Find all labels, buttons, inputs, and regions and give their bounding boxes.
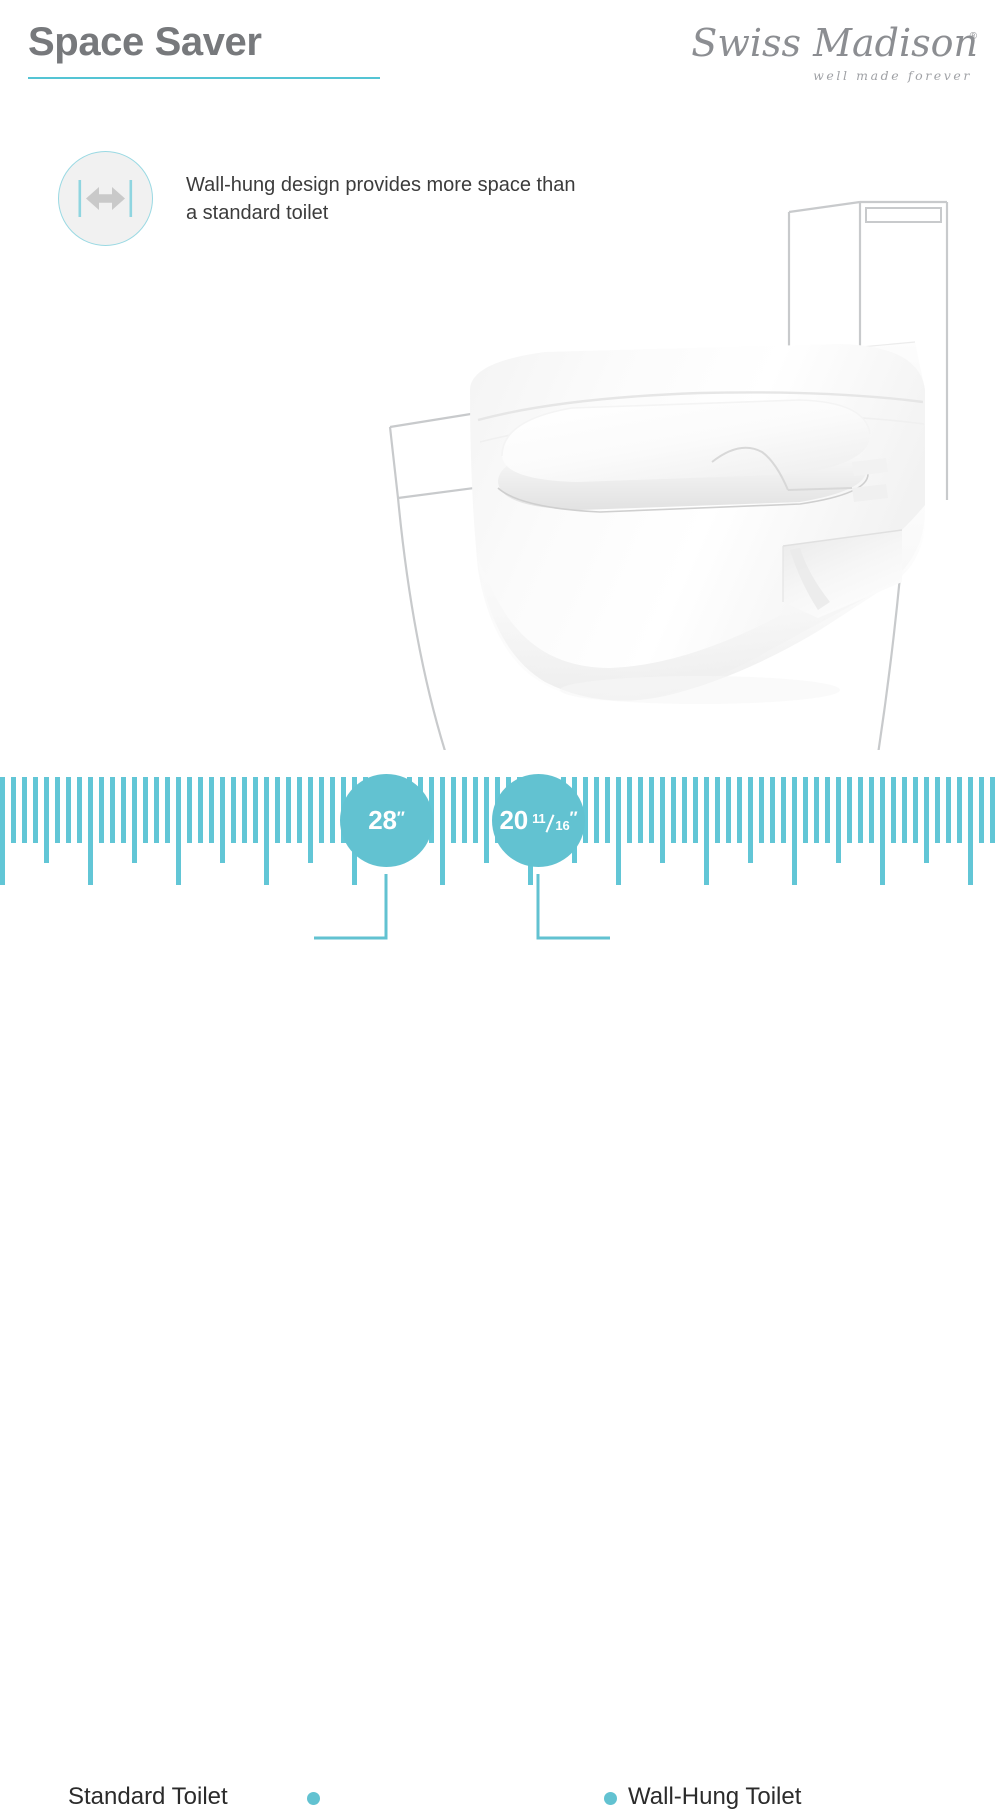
ruler-tick [242,777,247,843]
ruler-tick [154,777,159,843]
brand-logo: Swiss Madison ® well made forever [688,24,978,86]
fraction-denominator: 16 [555,818,569,833]
ruler-tick [627,777,632,843]
legend-label-wallhung: Wall-Hung Toilet [628,1785,801,1809]
ruler-tick [33,777,38,843]
ruler-tick [979,777,984,843]
ruler-tick [869,777,874,843]
ruler-tick [924,777,929,863]
ruler-tick [44,777,49,863]
ruler-tick [77,777,82,843]
ruler-tick [308,777,313,863]
ruler-tick [902,777,907,843]
ruler-tick [187,777,192,843]
ruler-tick [297,777,302,843]
ruler-tick [990,777,995,843]
legend-label-standard: Standard Toilet [68,1785,228,1809]
brand-tagline: well made forever [813,70,972,83]
ruler-tick [143,777,148,843]
legend: Standard Toilet Wall-Hung Toilet [0,860,1000,970]
wall-hung-toilet-render [470,342,925,704]
measurement-badge-wallhung[interactable]: 20 11 16 ″ [492,774,585,867]
ruler-tick [693,777,698,843]
ruler-tick [231,777,236,843]
ruler-tick [253,777,258,843]
ruler-tick [770,777,775,843]
ruler-tick [836,777,841,863]
ruler-tick [275,777,280,843]
fraction-numerator: 11 [532,811,545,826]
ruler-tick [671,777,676,843]
ruler-tick [462,777,467,843]
ruler-tick [759,777,764,843]
ruler-tick [594,777,599,843]
ruler-tick [737,777,742,843]
ruler-tick [209,777,214,843]
ruler-tick [451,777,456,843]
ruler-tick [649,777,654,843]
ruler-tick [814,777,819,843]
ruler-tick [781,777,786,843]
page-title: Space Saver [28,22,262,62]
ruler-tick [319,777,324,843]
ruler-tick [330,777,335,843]
ruler-tick [165,777,170,843]
brand-name: Swiss Madison [688,24,978,62]
ruler-tick [825,777,830,843]
ruler-tick [726,777,731,843]
legend-leader-lines [0,860,1000,970]
inch-mark: ″ [569,808,577,828]
page-title-underline [28,77,380,79]
ruler-tick [99,777,104,843]
ruler-tick [803,777,808,843]
ruler-tick [220,777,225,863]
ruler-tick [11,777,16,843]
ruler-tick [484,777,489,863]
legend-dot-standard [307,1792,320,1805]
ruler-tick [473,777,478,843]
ruler-tick [110,777,115,843]
ruler-tick [286,777,291,843]
ruler-tick [66,777,71,843]
ruler-tick [715,777,720,843]
measurement-badge-standard-text: 28 ″ [368,805,404,836]
ruler-tick [55,777,60,843]
ruler-tick [847,777,852,843]
measurement-badge-standard[interactable]: 28 ″ [340,774,433,867]
ruler-tick [748,777,753,863]
legend-dot-wallhung [604,1792,617,1805]
ruler-tick [682,777,687,843]
ruler-tick [660,777,665,863]
product-illustration [0,90,1000,750]
ruler-tick [121,777,126,843]
ruler-tick [22,777,27,843]
ruler-tick [891,777,896,843]
inch-mark: ″ [397,808,405,828]
ruler-tick [198,777,203,843]
ruler-tick [638,777,643,843]
ruler-tick [913,777,918,843]
ruler-tick [132,777,137,863]
measurement-fraction: 11 16 [532,814,569,829]
ruler-tick [605,777,610,843]
measurement-value: 28 [368,805,397,836]
ruler-tick [935,777,940,843]
fraction-bar-icon [545,816,555,829]
measurement-value: 20 [500,805,529,836]
ruler-tick [946,777,951,843]
measurement-badge-wallhung-text: 20 11 16 ″ [500,805,578,836]
ruler-tick [858,777,863,843]
registered-trademark-icon: ® [970,31,977,42]
ruler-tick [957,777,962,843]
